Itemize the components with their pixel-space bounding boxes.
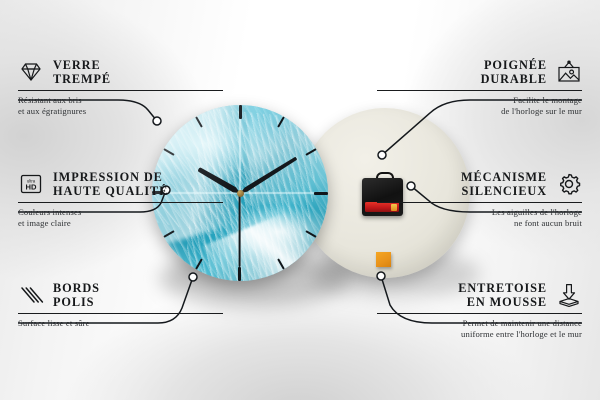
hour-tick-mark <box>305 230 316 238</box>
callout-title: IMPRESSION DE HAUTE QUALITÉ <box>53 170 168 198</box>
hour-tick-mark <box>239 105 242 119</box>
callout-subtitle: Surface lisse et sûre <box>18 318 223 329</box>
second-hand <box>239 193 241 267</box>
hour-tick-mark <box>277 116 285 127</box>
callout-subtitle: Permet de maintenir une distance uniform… <box>377 318 582 339</box>
callout-divider <box>18 90 223 91</box>
feather-texture-5 <box>248 105 328 205</box>
hour-tick-mark <box>305 148 316 156</box>
foam-spacer-icon <box>556 282 582 308</box>
callout-divider <box>377 313 582 314</box>
callout-subtitle: Résistant aux bris et aux égratignures <box>18 95 223 116</box>
hour-tick-mark <box>239 267 242 281</box>
diamond-icon <box>18 59 44 85</box>
minute-hand <box>239 156 298 195</box>
hour-tick-3 <box>240 192 328 194</box>
hour-tick-0 <box>239 105 241 193</box>
foam-spacer-pad <box>376 252 391 267</box>
hour-tick-6 <box>239 193 241 281</box>
hour-tick-2 <box>240 148 317 194</box>
callout-divider <box>18 313 223 314</box>
callout-bords-polis: BORDS POLIS Surface lisse et sûre <box>18 281 223 329</box>
callout-poignee-durable: POIGNÉE DURABLE Facilite le montage de l… <box>377 58 582 116</box>
callout-subtitle: Facilite le montage de l'horloge sur le … <box>377 95 582 116</box>
hour-tick-1 <box>239 116 285 193</box>
callout-verre-trempe: VERRE TREMPÉ Résistant aux bris et aux é… <box>18 58 223 116</box>
hour-tick-mark <box>163 148 174 156</box>
hand-center-cap <box>237 190 244 197</box>
callout-subtitle: Couleurs intenses et image claire <box>18 207 223 228</box>
callout-divider <box>377 202 582 203</box>
callout-title: POIGNÉE DURABLE <box>481 58 547 86</box>
hour-tick-mark <box>163 230 174 238</box>
hour-tick-4 <box>240 192 317 238</box>
hour-tick-mark <box>277 258 285 269</box>
ultra-hd-icon: ultra HD <box>18 171 44 197</box>
connector-dot-bords <box>189 273 197 281</box>
infographic-canvas: VERRE TREMPÉ Résistant aux bris et aux é… <box>0 0 600 400</box>
svg-text:HD: HD <box>26 183 37 192</box>
callout-title: BORDS POLIS <box>53 281 100 309</box>
connector-dot-verre <box>153 117 161 125</box>
callout-mecanisme-silencieux: MÉCANISME SILENCIEUX Les aiguilles de l'… <box>377 170 582 228</box>
callout-title: MÉCANISME SILENCIEUX <box>461 170 547 198</box>
callout-impression-haute-qualite: ultra HD IMPRESSION DE HAUTE QUALITÉ Cou… <box>18 170 223 228</box>
hour-tick-5 <box>239 193 285 270</box>
callout-entretoise-en-mousse: ENTRETOISE EN MOUSSE Permet de maintenir… <box>377 281 582 339</box>
polished-edges-icon <box>18 282 44 308</box>
hour-tick-mark <box>195 116 203 127</box>
wall-hanger-picture-icon <box>556 59 582 85</box>
callout-title: VERRE TREMPÉ <box>53 58 111 86</box>
hour-tick-mark <box>314 192 328 195</box>
callout-subtitle: Les aiguilles de l'horloge ne font aucun… <box>377 207 582 228</box>
callout-title: ENTRETOISE EN MOUSSE <box>458 281 547 309</box>
callout-divider <box>377 90 582 91</box>
callout-divider <box>18 202 223 203</box>
hour-tick-mark <box>195 258 203 269</box>
gear-icon <box>556 171 582 197</box>
